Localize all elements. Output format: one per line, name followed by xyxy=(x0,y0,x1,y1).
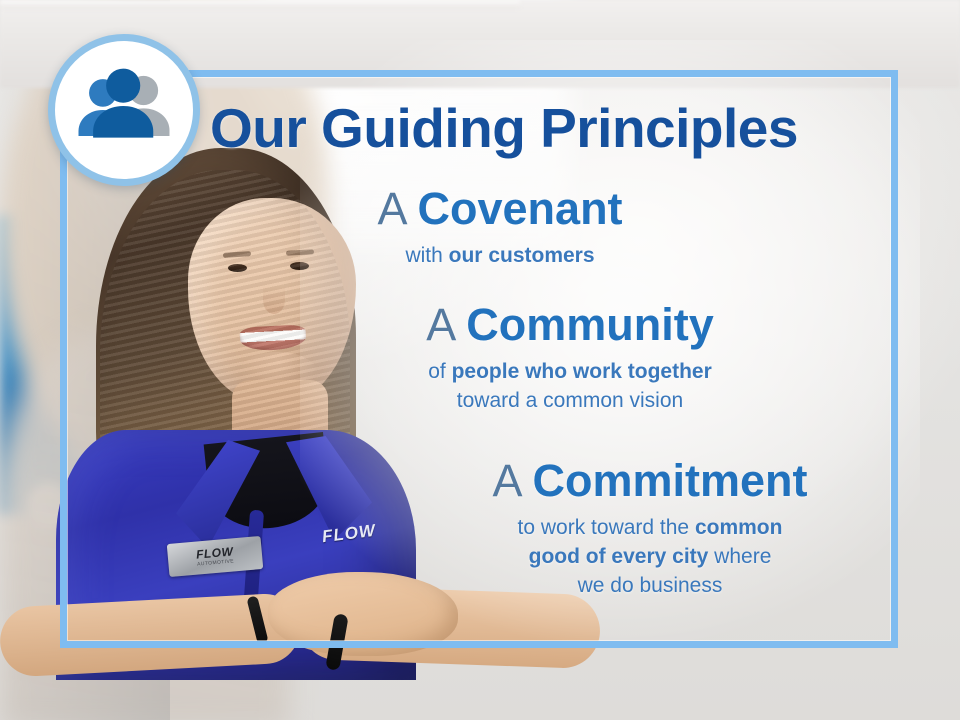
people-group-badge xyxy=(48,34,200,186)
people-group-icon xyxy=(72,58,176,162)
photo-subject-hands xyxy=(268,572,458,656)
background-desk-edge xyxy=(0,0,520,8)
name-badge-sub: AUTOMOTIVE xyxy=(197,559,234,567)
guiding-principles-graphic: FLOW AUTOMOTIVE FLOW Our Guiding Princip… xyxy=(0,0,960,720)
